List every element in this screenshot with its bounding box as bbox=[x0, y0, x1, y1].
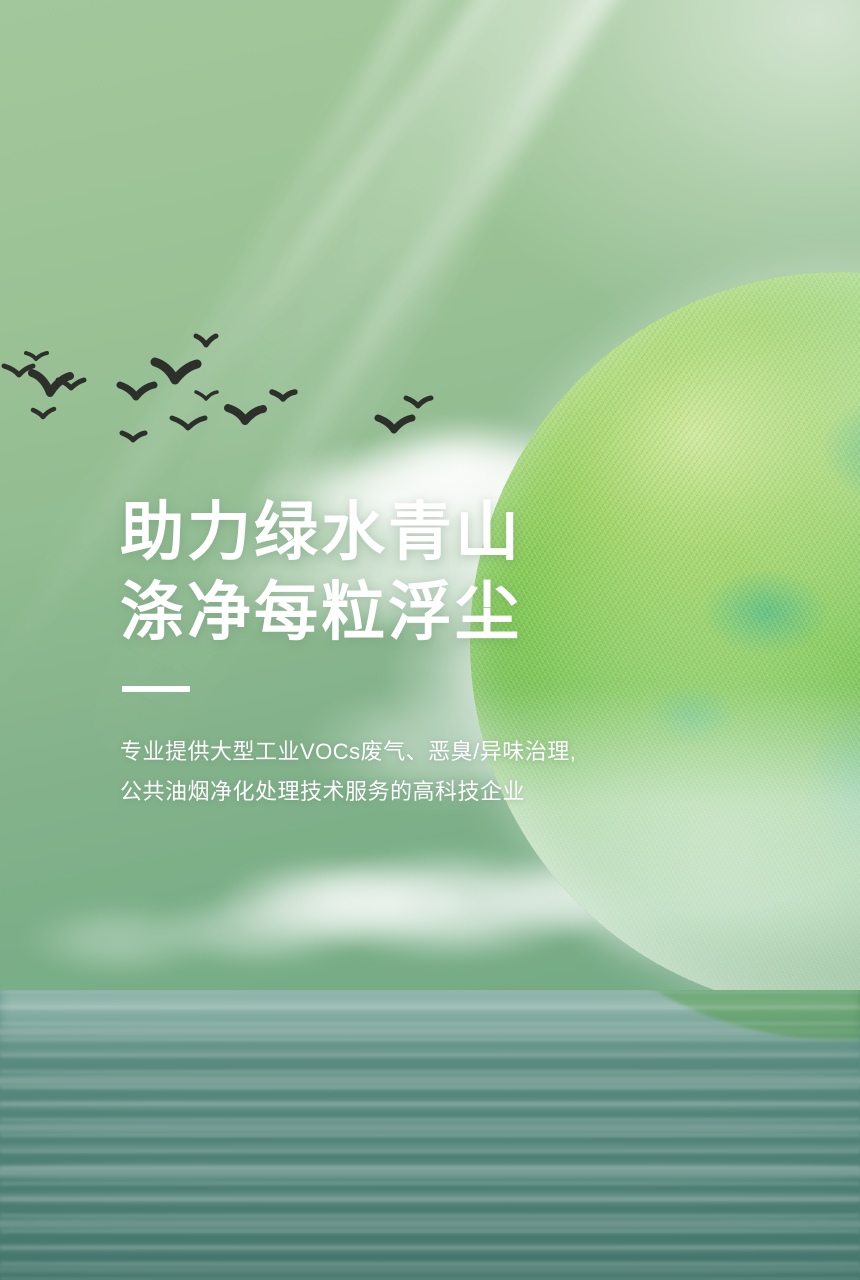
headline-line-1: 助力绿水青山 bbox=[120, 492, 680, 572]
page-title: 助力绿水青山 涤净每粒浮尘 bbox=[120, 492, 680, 652]
poster-root: 助力绿水青山 涤净每粒浮尘 专业提供大型工业VOCs废气、恶臭/异味治理, 公共… bbox=[0, 0, 860, 1280]
flying-birds-flock bbox=[0, 330, 470, 460]
reflection-ripple-stripes bbox=[0, 990, 860, 1280]
hero-copy: 助力绿水青山 涤净每粒浮尘 专业提供大型工业VOCs废气、恶臭/异味治理, 公共… bbox=[120, 492, 680, 812]
subtitle-line-2: 公共油烟净化处理技术服务的高科技企业 bbox=[120, 772, 680, 812]
subtitle: 专业提供大型工业VOCs废气、恶臭/异味治理, 公共油烟净化处理技术服务的高科技… bbox=[120, 732, 680, 812]
subtitle-line-1: 专业提供大型工业VOCs废气、恶臭/异味治理, bbox=[120, 732, 680, 772]
title-divider bbox=[122, 686, 190, 692]
headline-line-2: 涤净每粒浮尘 bbox=[120, 572, 680, 652]
globe-water-reflection bbox=[0, 990, 860, 1280]
